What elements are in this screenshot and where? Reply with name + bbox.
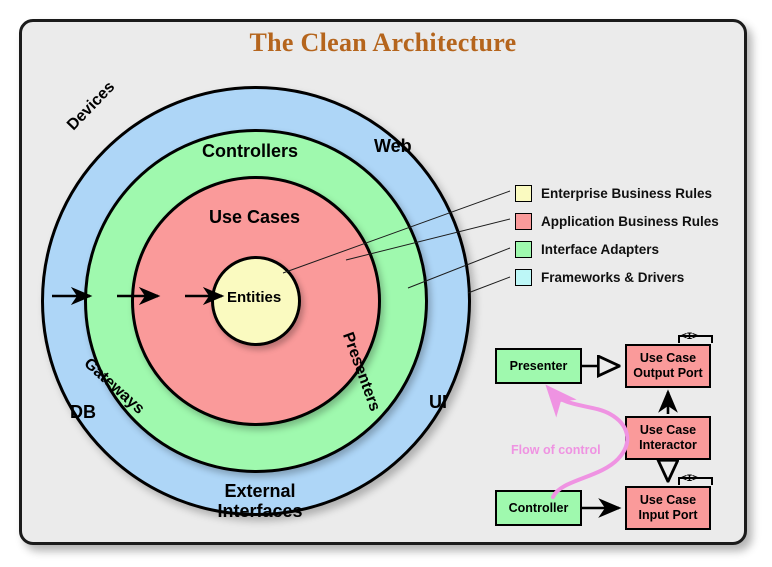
flow-box-use-case-input-port[interactable]: Use Case Input Port <box>625 486 711 530</box>
ring-label-entities: Entities <box>227 290 281 307</box>
ring-label-web: Web <box>374 136 412 156</box>
legend-swatch-cyan <box>515 269 532 286</box>
legend-item-interface-adapters[interactable]: Interface Adapters <box>515 236 747 262</box>
box-line-2: Interactor <box>639 438 697 452</box>
legend: Enterprise Business Rules Application Bu… <box>515 180 747 292</box>
legend-swatch-pink <box>515 213 532 230</box>
external-line-1: External <box>224 481 295 501</box>
box-line-1: Use Case <box>640 493 696 507</box>
external-line-2: Interfaces <box>217 501 302 521</box>
flow-box-controller[interactable]: Controller <box>495 490 582 526</box>
legend-item-application-business-rules[interactable]: Application Business Rules <box>515 208 747 234</box>
legend-item-frameworks-drivers[interactable]: Frameworks & Drivers <box>515 264 747 290</box>
interface-marker-input-port: <I> <box>681 474 698 485</box>
flow-box-use-case-interactor[interactable]: Use Case Interactor <box>625 416 711 460</box>
interface-marker-output-port: <I> <box>681 332 698 343</box>
ring-label-db: DB <box>70 402 96 422</box>
box-line-1: Use Case <box>640 423 696 437</box>
legend-label: Application Business Rules <box>541 214 719 229</box>
ring-label-controllers: Controllers <box>202 141 298 161</box>
legend-label: Enterprise Business Rules <box>541 186 712 201</box>
legend-label: Frameworks & Drivers <box>541 270 684 285</box>
flow-box-use-case-output-port[interactable]: Use Case Output Port <box>625 344 711 388</box>
ring-label-external-interfaces: External Interfaces <box>184 481 336 521</box>
legend-swatch-green <box>515 241 532 258</box>
diagram-canvas: The Clean Architecture Devices Web Contr… <box>0 0 772 567</box>
legend-label: Interface Adapters <box>541 242 659 257</box>
legend-swatch-yellow <box>515 185 532 202</box>
box-line-1: Use Case <box>640 351 696 365</box>
box-line-2: Input Port <box>638 508 697 522</box>
ring-label-use-cases: Use Cases <box>209 207 300 227</box>
flow-of-control-label: Flow of control <box>511 443 601 457</box>
ring-label-ui: UI <box>429 392 447 412</box>
flow-box-presenter[interactable]: Presenter <box>495 348 582 384</box>
legend-item-enterprise-business-rules[interactable]: Enterprise Business Rules <box>515 180 747 206</box>
box-line-2: Output Port <box>633 366 702 380</box>
page-title: The Clean Architecture <box>19 28 747 58</box>
